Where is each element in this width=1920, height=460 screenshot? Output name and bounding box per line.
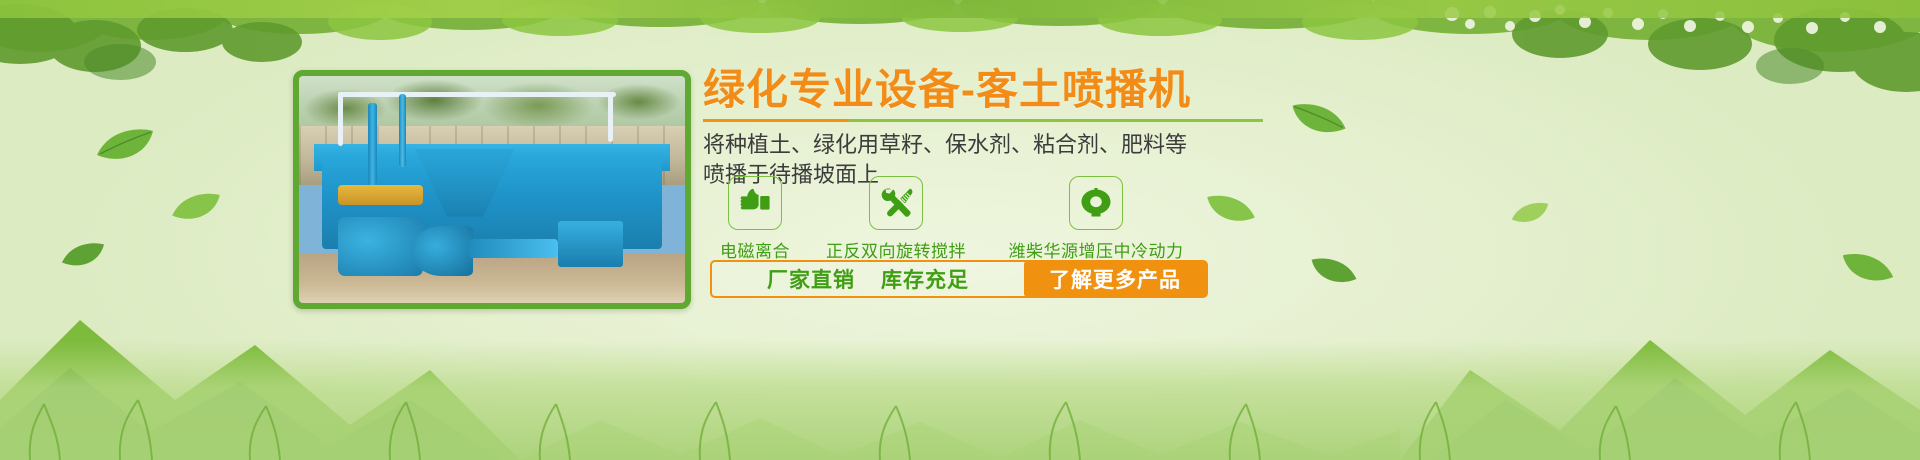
promo-banner: 绿化专业设备-客土喷播机 将种植土、绿化用草籽、保水剂、粘合剂、肥料等 喷播于待… [0,0,1920,460]
cta-bar: 厂家直销 库存充足 了解更多产品 [710,260,1208,298]
leaf-icon [1840,250,1896,286]
engine-icon [1069,176,1123,230]
title-divider [703,119,1263,122]
learn-more-button[interactable]: 了解更多产品 [1024,262,1206,296]
cta-tags: 厂家直销 库存充足 [712,262,1024,296]
banner-title: 绿化专业设备-客土喷播机 [703,66,1323,113]
feature-list: 电磁离合 正反双向旋转搅拌 [703,176,1323,262]
headline-block: 绿化专业设备-客土喷播机 将种植土、绿化用草籽、保水剂、粘合剂、肥料等 喷播于待… [703,66,1323,189]
feature-label: 电磁离合 [720,237,790,262]
feature-item-bidirectional-mixing: 正反双向旋转搅拌 [807,176,985,262]
cta-tag-factory-direct: 厂家直销 [767,264,855,294]
wrench-screwdriver-glyph [879,186,913,220]
leaf-icon [170,190,222,224]
feature-label: 正反双向旋转搅拌 [826,237,966,262]
leaf-icon [60,240,106,270]
product-photo-image [299,76,685,303]
grass-strip [0,340,1920,460]
cta-tag-in-stock: 库存充足 [881,264,969,294]
feature-item-engine-power: 潍柴华源增压中冷动力 [985,176,1207,262]
wrench-screwdriver-icon [869,176,923,230]
feature-item-electromagnetic-clutch: 电磁离合 [703,176,807,262]
thumbs-up-glyph [738,188,772,218]
engine-glyph [1079,188,1113,218]
leaf-icon [95,125,155,165]
grass-blades [0,350,1920,460]
subtitle-line-1: 将种植土、绿化用草籽、保水剂、粘合剂、肥料等 [703,130,1323,159]
feature-label: 潍柴华源增压中冷动力 [1009,237,1184,262]
product-photo [293,70,691,309]
thumbs-up-icon [728,176,782,230]
top-green-bar [0,0,1920,18]
leaf-icon [1510,200,1550,226]
